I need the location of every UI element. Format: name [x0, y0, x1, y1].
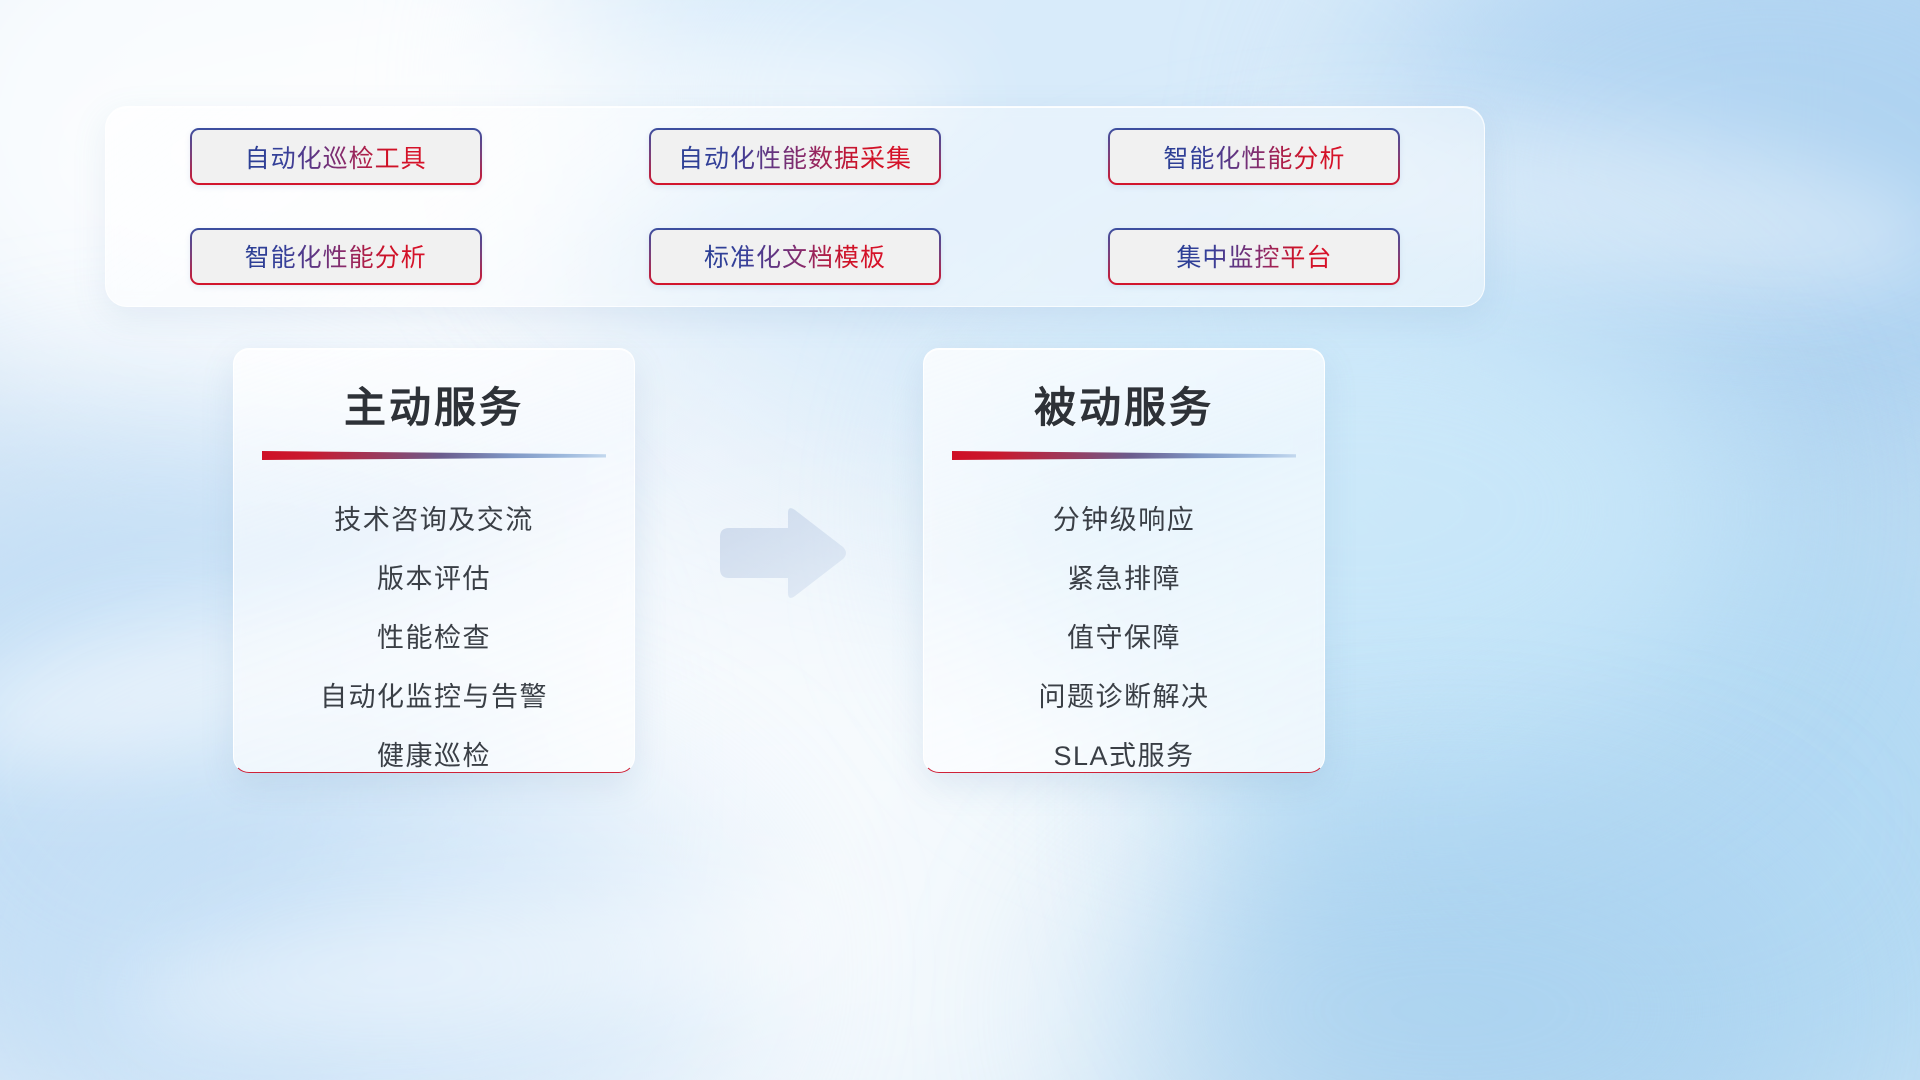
card-divider: [262, 451, 606, 465]
capability-pill-surface: 自动化性能数据采集: [651, 130, 939, 183]
service-card-proactive: 主动服务 技术咨询及交流 版本评估 性能检查 自动化监控与告警 健康巡检: [233, 348, 635, 773]
capability-pill-label: 智能化性能分析: [1163, 139, 1345, 175]
card-list-item: 问题诊断解决: [1039, 668, 1210, 727]
capability-pill-label: 自动化性能数据采集: [678, 139, 912, 175]
card-list-item: 自动化监控与告警: [320, 668, 548, 727]
card-divider: [952, 451, 1296, 465]
capability-pill-5[interactable]: 标准化文档模板: [649, 228, 941, 285]
card-list-item: 分钟级响应: [1053, 491, 1196, 550]
card-item-list: 分钟级响应 紧急排障 值守保障 问题诊断解决 SLA式服务: [924, 491, 1324, 773]
capability-pill-6[interactable]: 集中监控平台: [1108, 228, 1400, 285]
capability-pill-3[interactable]: 智能化性能分析: [1108, 128, 1400, 185]
right-arrow-icon: [714, 503, 850, 603]
capability-pill-2[interactable]: 自动化性能数据采集: [649, 128, 941, 185]
capability-pill-1[interactable]: 自动化巡检工具: [190, 128, 482, 185]
service-card-reactive: 被动服务 分钟级响应 紧急排障 值守保障 问题诊断解决 SLA式服务: [923, 348, 1325, 773]
card-list-item: 健康巡检: [377, 727, 491, 773]
capability-pill-grid: 自动化巡检工具 自动化性能数据采集 智能化性能分析 智能化性能分析 标准化文档模…: [106, 107, 1484, 306]
capability-pill-4[interactable]: 智能化性能分析: [190, 228, 482, 285]
card-list-item: 值守保障: [1067, 609, 1181, 668]
card-list-item: 性能检查: [377, 609, 491, 668]
card-title: 主动服务: [234, 374, 634, 435]
card-divider-bar: [262, 451, 606, 460]
capability-pill-label: 集中监控平台: [1176, 238, 1332, 274]
capability-pill-surface: 智能化性能分析: [192, 230, 480, 283]
card-divider-bar: [952, 451, 1296, 460]
card-list-item: 技术咨询及交流: [334, 491, 534, 550]
card-list-item: 版本评估: [377, 550, 491, 609]
capability-panel: 自动化巡检工具 自动化性能数据采集 智能化性能分析 智能化性能分析 标准化文档模…: [105, 106, 1485, 307]
capability-pill-label: 标准化文档模板: [704, 238, 886, 274]
card-list-item: SLA式服务: [1053, 727, 1194, 773]
capability-pill-label: 智能化性能分析: [245, 238, 427, 274]
card-item-list: 技术咨询及交流 版本评估 性能检查 自动化监控与告警 健康巡检: [234, 491, 634, 773]
card-list-item: 紧急排障: [1067, 550, 1181, 609]
capability-pill-surface: 标准化文档模板: [651, 230, 939, 283]
capability-pill-label: 自动化巡检工具: [245, 139, 427, 175]
capability-pill-surface: 自动化巡检工具: [192, 130, 480, 183]
capability-pill-surface: 集中监控平台: [1110, 230, 1398, 283]
card-title: 被动服务: [924, 374, 1324, 435]
capability-pill-surface: 智能化性能分析: [1110, 130, 1398, 183]
